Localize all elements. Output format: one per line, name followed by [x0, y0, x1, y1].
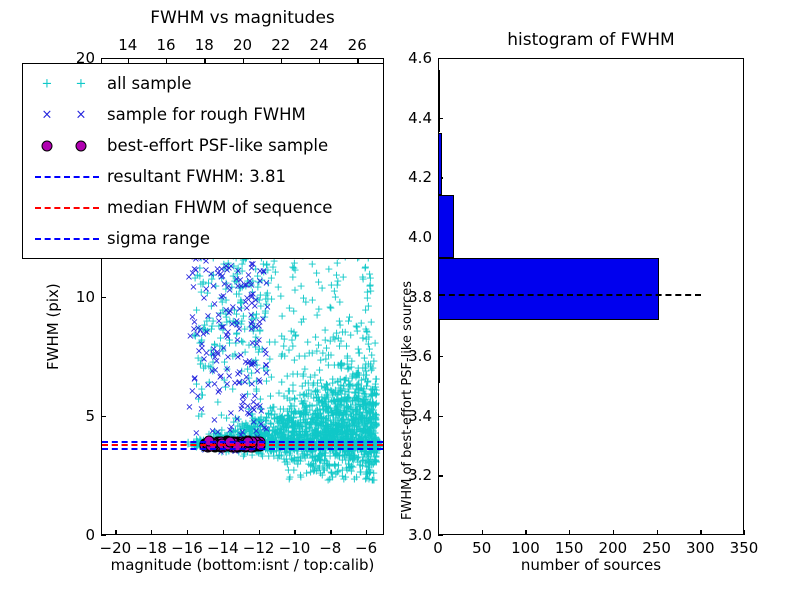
all-sample-point: +: [285, 471, 294, 482]
circle-marker: [29, 136, 107, 156]
rough-sample-point: ×: [210, 380, 218, 390]
scatter-bottom-tick-label: −8: [319, 539, 341, 557]
rough-sample-point: ×: [212, 357, 220, 367]
histogram-y-tick-label: 4.2: [390, 168, 432, 186]
all-sample-point: +: [307, 413, 316, 424]
rough-sample-point: ×: [190, 375, 198, 385]
rough-sample-point: ×: [235, 368, 243, 378]
histogram-bar: [439, 258, 659, 321]
scatter-bottom-tick-label: −16: [171, 539, 203, 557]
histogram-y-tick-label: 3.0: [390, 526, 432, 544]
rough-sample-point: ×: [214, 269, 222, 279]
rough-sample-point: ×: [247, 361, 255, 371]
all-sample-point: +: [339, 272, 348, 283]
all-sample-point: +: [290, 393, 299, 404]
legend-item-label: resultant FWHM: 3.81: [107, 167, 286, 186]
all-sample-point: +: [344, 463, 353, 474]
all-sample-point: +: [326, 349, 335, 360]
rough-sample-point: ×: [248, 299, 256, 309]
all-sample-point: +: [353, 326, 362, 337]
rough-sample-point: ×: [244, 271, 252, 281]
rough-sample-point: ×: [224, 353, 232, 363]
rough-sample-point: ×: [263, 303, 271, 313]
all-sample-point: +: [326, 303, 335, 314]
histogram-x-tick-label: 0: [433, 539, 443, 557]
scatter-top-tick-label: 18: [195, 36, 214, 54]
all-sample-point: +: [324, 264, 333, 275]
figure-canvas: FWHM vs magnitudes 14161820222426 −20−18…: [0, 0, 800, 600]
rough-sample-point: ×: [227, 423, 235, 433]
rough-sample-point: ×: [219, 292, 227, 302]
scatter-top-tick-label: 26: [348, 36, 367, 54]
rough-sample-point: ×: [204, 312, 212, 322]
rough-sample-point: ×: [249, 260, 257, 270]
legend-item: ××sample for rough FWHM: [23, 99, 383, 130]
histogram-resultant-fwhm-line: [439, 294, 701, 296]
histogram-bar: [439, 70, 440, 133]
all-sample-point: +: [317, 396, 326, 407]
scatter-bottom-tick-label: −12: [243, 539, 275, 557]
scatter-bottom-tick-label: −20: [100, 539, 132, 557]
rough-sample-point: ×: [185, 273, 193, 283]
scatter-bottom-tick-label: −14: [207, 539, 239, 557]
all-sample-point: +: [371, 378, 380, 389]
rough-sample-point: ×: [241, 281, 249, 291]
scatter-bottom-tick-label: −18: [135, 539, 167, 557]
histogram-y-tick: [438, 535, 443, 536]
rough-sample-point: ×: [257, 407, 265, 417]
all-sample-point: +: [366, 279, 375, 290]
all-sample-point: +: [316, 375, 325, 386]
histogram-xlabel: number of sources: [438, 556, 744, 574]
legend-item-label: best-effort PSF-like sample: [107, 136, 328, 155]
rough-sample-point: ×: [200, 294, 208, 304]
rough-sample-point: ×: [262, 425, 270, 435]
all-sample-point: +: [358, 455, 367, 466]
plus-marker: ++: [29, 74, 107, 94]
all-sample-point: +: [331, 291, 340, 302]
histogram-x-tick-label: 350: [730, 539, 759, 557]
scatter-y-tick-label: 0: [63, 526, 95, 544]
all-sample-point: +: [362, 369, 371, 380]
scatter-top-tick-label: 14: [118, 36, 137, 54]
histogram-y-tick-label: 4.6: [390, 49, 432, 67]
scatter-sigma-range-lower-line: [102, 448, 383, 450]
rough-sample-point: ×: [192, 429, 200, 439]
all-sample-point: +: [357, 396, 366, 407]
all-sample-point: +: [356, 422, 365, 433]
rough-sample-point: ×: [197, 405, 205, 415]
all-sample-point: +: [314, 304, 323, 315]
all-sample-point: +: [280, 333, 289, 344]
rough-sample-point: ×: [185, 403, 193, 413]
plot-legend: ++all sample××sample for rough FWHMbest-…: [22, 63, 384, 259]
histogram-x-tick-label: 250: [642, 539, 671, 557]
all-sample-point: +: [335, 341, 344, 352]
rough-sample-point: ×: [198, 344, 206, 354]
legend-item: median FHWM of sequence: [23, 192, 383, 223]
scatter-xlabel: magnitude (bottom:isnt / top:calib): [81, 556, 404, 574]
all-sample-point: +: [342, 405, 351, 416]
histogram-ylabel: FWHM of best-effort PSF-like sources: [400, 281, 415, 520]
all-sample-point: +: [318, 460, 327, 471]
all-sample-point: +: [328, 408, 337, 419]
scatter-top-tick-label: 16: [156, 36, 175, 54]
all-sample-point: +: [278, 349, 287, 360]
legend-item: best-effort PSF-like sample: [23, 130, 383, 161]
all-sample-point: +: [296, 455, 305, 466]
all-sample-point: +: [293, 368, 302, 379]
histogram-x-tick: [744, 530, 745, 535]
all-sample-point: +: [334, 459, 343, 470]
scatter-median-fhwm-of-sequence-line: [102, 444, 383, 446]
rough-sample-point: ×: [262, 279, 270, 289]
dashed-line: [29, 198, 107, 218]
scatter-title: FWHM vs magnitudes: [101, 8, 384, 28]
legend-item: sigma range: [23, 223, 383, 254]
rough-sample-point: ×: [210, 416, 218, 426]
all-sample-point: +: [370, 456, 379, 467]
rough-sample-point: ×: [262, 361, 270, 371]
all-sample-point: +: [361, 304, 370, 315]
all-sample-point: +: [276, 291, 285, 302]
all-sample-point: +: [308, 453, 317, 464]
rough-sample-point: ×: [189, 283, 197, 293]
scatter-sigma-range-upper-line: [102, 441, 383, 443]
rough-sample-point: ×: [255, 336, 263, 346]
rough-sample-point: ×: [233, 336, 241, 346]
scatter-bottom-tick-label: −6: [355, 539, 377, 557]
histogram-x-tick-label: 50: [472, 539, 491, 557]
scatter-y-tick-label: 5: [63, 407, 95, 425]
all-sample-point: +: [339, 380, 348, 391]
legend-item-label: sample for rough FWHM: [107, 105, 306, 124]
scatter-y-tick-label: 10: [63, 288, 95, 306]
all-sample-point: +: [283, 370, 292, 381]
rough-sample-point: ×: [228, 320, 236, 330]
rough-sample-point: ×: [209, 282, 217, 292]
rough-sample-point: ×: [256, 378, 264, 388]
histogram-y-tick-label: 4.0: [390, 228, 432, 246]
cross-marker: ××: [29, 105, 107, 125]
rough-sample-point: ×: [250, 406, 258, 416]
rough-sample-point: ×: [229, 303, 237, 313]
legend-item: ++all sample: [23, 68, 383, 99]
histogram-bar: [439, 195, 454, 258]
dashdot-line: [29, 229, 107, 249]
histogram-title: histogram of FWHM: [438, 30, 744, 50]
rough-sample-point: ×: [224, 328, 232, 338]
all-sample-point: +: [361, 468, 370, 479]
rough-sample-point: ×: [255, 322, 263, 332]
all-sample-point: +: [357, 382, 366, 393]
legend-item: resultant FWHM: 3.81: [23, 161, 383, 192]
legend-item-label: all sample: [107, 74, 192, 93]
histogram-plot-area: [439, 59, 743, 534]
all-sample-point: +: [366, 412, 375, 423]
all-sample-point: +: [296, 280, 305, 291]
all-sample-point: +: [308, 258, 317, 269]
scatter-top-tick-label: 20: [233, 36, 252, 54]
all-sample-point: +: [327, 426, 336, 437]
all-sample-point: +: [270, 337, 279, 348]
all-sample-point: +: [311, 429, 320, 440]
rough-sample-point: ×: [248, 380, 256, 390]
all-sample-point: +: [291, 330, 300, 341]
all-sample-point: +: [317, 283, 326, 294]
histogram-x-tick-label: 300: [686, 539, 715, 557]
rough-sample-point: ×: [231, 379, 239, 389]
rough-sample-point: ×: [232, 275, 240, 285]
all-sample-point: +: [337, 418, 346, 429]
rough-sample-point: ×: [261, 346, 269, 356]
all-sample-point: +: [290, 355, 299, 366]
rough-sample-point: ×: [219, 344, 227, 354]
histogram-bar: [439, 133, 442, 196]
all-sample-point: +: [327, 385, 336, 396]
all-sample-point: +: [337, 358, 346, 369]
rough-sample-point: ×: [194, 324, 202, 334]
scatter-y-tick: [101, 535, 106, 536]
all-sample-point: +: [285, 302, 294, 313]
all-sample-point: +: [360, 353, 369, 364]
scatter-ylabel: FWHM (pix): [44, 283, 62, 370]
scatter-top-tick-label: 24: [309, 36, 328, 54]
scatter-top-tick-label: 22: [271, 36, 290, 54]
legend-item-label: median FHWM of sequence: [107, 198, 332, 217]
rough-sample-point: ×: [194, 392, 202, 402]
all-sample-point: +: [290, 265, 299, 276]
histogram-bar: [439, 320, 440, 383]
rough-sample-point: ×: [222, 262, 230, 272]
histogram-x-tick-label: 200: [599, 539, 628, 557]
dashed-line: [29, 167, 107, 187]
rough-sample-point: ×: [247, 311, 255, 321]
rough-sample-point: ×: [210, 300, 218, 310]
rough-sample-point: ×: [186, 332, 194, 342]
all-sample-point: +: [339, 474, 348, 485]
histogram-y-tick-label: 4.4: [390, 109, 432, 127]
scatter-bottom-tick-label: −10: [279, 539, 311, 557]
all-sample-point: +: [302, 468, 311, 479]
histogram-x-tick-label: 150: [555, 539, 584, 557]
histogram-x-tick-label: 100: [511, 539, 540, 557]
rough-sample-point: ×: [200, 355, 208, 365]
all-sample-point: +: [274, 387, 283, 398]
rough-sample-point: ×: [240, 392, 248, 402]
all-sample-point: +: [300, 351, 309, 362]
legend-item-label: sigma range: [107, 229, 210, 248]
all-sample-point: +: [278, 410, 287, 421]
